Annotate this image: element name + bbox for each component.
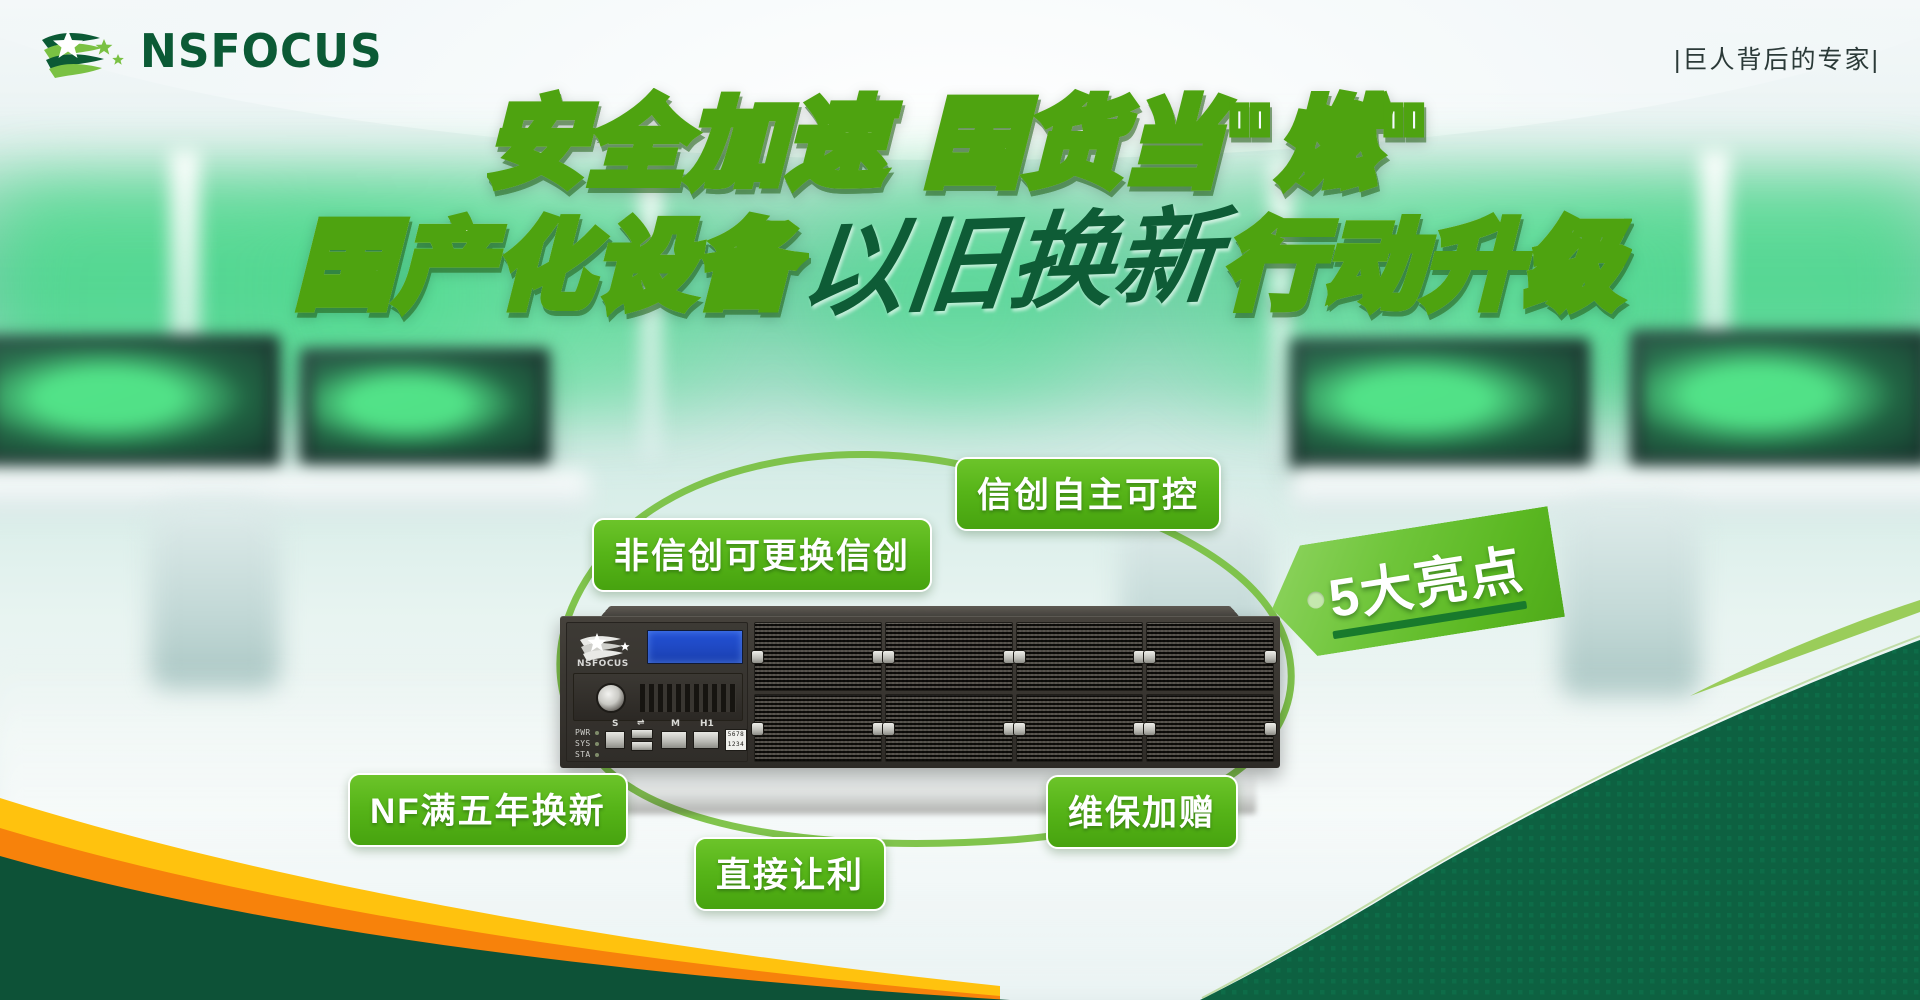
rackmount-security-appliance: NSFOCUS PWR SYS STA S ⇌ M H1 [560,590,1280,790]
port-label-m: M [671,719,680,729]
badge-nf-five-year-renew[interactable]: NF满五年换新 [348,773,628,847]
drive-bay-lock-knob[interactable] [596,683,626,713]
led-row-sys: SYS [575,738,599,749]
led-indicator-pwr [595,731,599,735]
headline-line-2-wrap: 国产化设备 以旧换新 行动升级 [0,211,1920,315]
led-label-sys: SYS [575,739,591,748]
drive-bay-module[interactable] [1016,694,1144,763]
led-indicator-sys [595,742,599,746]
led-label-pwr: PWR [575,728,591,737]
port-label-usb: ⇌ [637,718,645,728]
brand-tagline: |巨人背后的专家| [1674,40,1880,76]
led-row-sta: STA [575,749,599,760]
dip-switch-top-row: 5678 [726,730,746,740]
operator-monitor-1 [0,335,280,470]
drive-bay-module[interactable] [1146,694,1274,763]
headline-line-2-left: 国产化设备 [296,218,796,314]
headline-block: 安全加速 国货当"燃" 国产化设备 以旧换新 行动升级 [0,96,1920,315]
banner-canvas: NSFOCUS |巨人背后的专家| 安全加速 国货当"燃" 国产化设备 以旧换新… [0,0,1920,1000]
drive-bay-module[interactable] [885,622,1013,691]
ha-ethernet-port[interactable] [693,731,719,749]
appliance-status-leds: PWR SYS STA [575,727,599,760]
headline-line-1-wrap: 安全加速 国货当"燃" [0,96,1920,193]
appliance-control-section: NSFOCUS PWR SYS STA S ⇌ M H1 [566,622,748,762]
headline-line-1: 安全加速 国货当"燃" [487,96,1432,192]
usb-port-upper[interactable] [631,729,653,739]
appliance-dip-switch[interactable]: 5678 1234 [725,729,747,751]
headline-line-2-right: 行动升级 [1224,218,1624,314]
nsfocus-flag-star-logo-icon [38,26,130,78]
usb-port-lower[interactable] [631,741,653,751]
appliance-drive-bay-array [754,622,1274,762]
nsfocus-wordmark: NSFOCUS [140,29,383,76]
nsfocus-logo[interactable]: NSFOCUS [38,26,383,78]
management-ethernet-port[interactable] [661,731,687,749]
badge-maintenance-bonus[interactable]: 维保加赠 [1046,775,1238,849]
dip-switch-bottom-row: 1234 [726,740,746,750]
appliance-lcd-display[interactable] [647,630,743,664]
drive-bay-module[interactable] [1146,622,1274,691]
operator-monitor-2 [300,348,550,468]
badge-direct-discount[interactable]: 直接让利 [694,837,886,911]
drive-bay-module[interactable] [754,622,882,691]
appliance-front-wordmark: NSFOCUS [577,659,629,669]
appliance-removable-drive-bay[interactable] [573,673,743,721]
badge-xinchuang-autonomous[interactable]: 信创自主可控 [955,457,1221,531]
operator-monitor-3 [1290,338,1590,470]
drive-bay-module[interactable] [1016,622,1144,691]
port-label-serial: S [612,719,618,729]
drive-bay-module[interactable] [885,694,1013,763]
serial-console-port[interactable] [605,731,625,749]
badge-replace-nonxinchuang[interactable]: 非信创可更换信创 [592,518,932,592]
led-label-sta: STA [575,750,591,759]
led-indicator-sta [595,753,599,757]
headline-brush-phrase: 以旧换新 [796,204,1225,322]
operator-monitor-4 [1630,330,1920,470]
led-row-pwr: PWR [575,727,599,738]
port-label-h1: H1 [700,719,714,729]
drive-bay-module[interactable] [754,694,882,763]
drive-bay-vent-grille [640,684,736,712]
appliance-front-panel: NSFOCUS PWR SYS STA S ⇌ M H1 [560,616,1280,768]
operator-desk-left [0,470,590,516]
